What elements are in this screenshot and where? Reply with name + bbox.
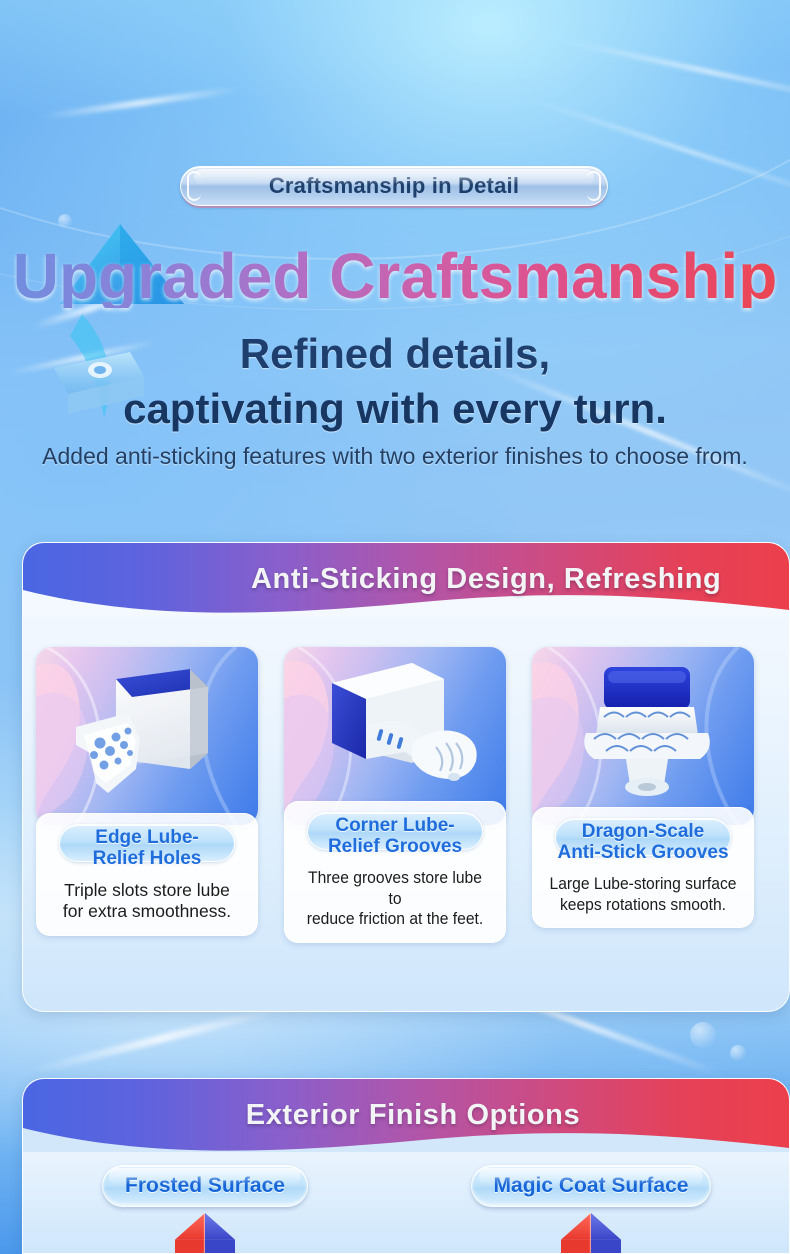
frosted-cube	[130, 1213, 280, 1253]
cube-center-piece-dragon-scale	[532, 647, 754, 825]
feature-card: Corner Lube- Relief Grooves Three groove…	[284, 647, 506, 943]
feature-card-title: Corner Lube- Relief Grooves	[290, 815, 500, 858]
finish-option: Frosted Surface	[95, 1165, 315, 1207]
feature-card-title-badge: Edge Lube- Relief Holes	[59, 824, 234, 862]
page-headline: Upgraded Craftsmanship	[0, 244, 790, 308]
cube-edge-piece-with-lube-holes	[36, 647, 258, 825]
magic-coat-cube	[516, 1213, 666, 1253]
badge-cap-left	[187, 171, 201, 201]
badge-label: Craftsmanship in Detail	[269, 173, 519, 199]
feature-card-description: Large Lube-storing surface keeps rotatio…	[549, 874, 737, 915]
exterior-finish-banner-title: Exterior Finish Options	[23, 1079, 789, 1151]
feature-card: Edge Lube- Relief Holes Triple slots sto…	[36, 647, 258, 936]
feature-card-text: Dragon-Scale Anti-Stick Grooves Large Lu…	[532, 807, 754, 928]
finish-option-badge-magic-coat[interactable]: Magic Coat Surface	[471, 1165, 712, 1207]
cube-corner-piece-with-grooves	[284, 647, 506, 825]
feature-card-image-edge-piece	[36, 647, 258, 825]
hero-caption: Added anti-sticking features with two ex…	[0, 445, 790, 468]
anti-sticking-section: Anti-Sticking Design, Refreshing	[22, 542, 790, 1012]
feature-card-title-badge: Dragon-Scale Anti-Stick Grooves	[555, 818, 730, 856]
section-badge-craftsmanship: Craftsmanship in Detail	[180, 166, 608, 206]
finish-option-label: Magic Coat Surface	[494, 1174, 689, 1198]
feature-card-description: Triple slots store lube for extra smooth…	[45, 880, 249, 923]
badge-cap-right	[587, 171, 601, 201]
feature-card-text: Edge Lube- Relief Holes Triple slots sto…	[36, 813, 258, 936]
subtitle-line-2: captivating with every turn.	[0, 388, 790, 430]
subtitle-line-1: Refined details,	[0, 333, 790, 375]
product-detail-page: Craftsmanship in Detail Upgraded Craftsm…	[0, 0, 790, 1254]
feature-card-description: Three grooves store lube to reduce frict…	[301, 868, 489, 930]
feature-card-list: Edge Lube- Relief Holes Triple slots sto…	[23, 647, 789, 997]
feature-card-image-corner-piece	[284, 647, 506, 825]
feature-card-text: Corner Lube- Relief Grooves Three groove…	[284, 801, 506, 943]
exterior-finish-section: Exterior Finish Options Frosted Surface	[22, 1078, 790, 1254]
finish-option: Magic Coat Surface	[463, 1165, 719, 1207]
anti-sticking-banner-title: Anti-Sticking Design, Refreshing	[23, 543, 789, 615]
finish-option-badge-frosted[interactable]: Frosted Surface	[102, 1165, 308, 1207]
feature-card-image-center-piece	[532, 647, 754, 825]
feature-card-title-badge: Corner Lube- Relief Grooves	[307, 812, 482, 850]
feature-card: Dragon-Scale Anti-Stick Grooves Large Lu…	[532, 647, 754, 928]
finish-option-label: Frosted Surface	[125, 1174, 285, 1198]
feature-card-title: Dragon-Scale Anti-Stick Grooves	[532, 821, 754, 864]
background-bubble	[730, 1045, 746, 1061]
feature-card-title: Edge Lube- Relief Holes	[42, 827, 252, 870]
background-bubble	[690, 1022, 716, 1048]
